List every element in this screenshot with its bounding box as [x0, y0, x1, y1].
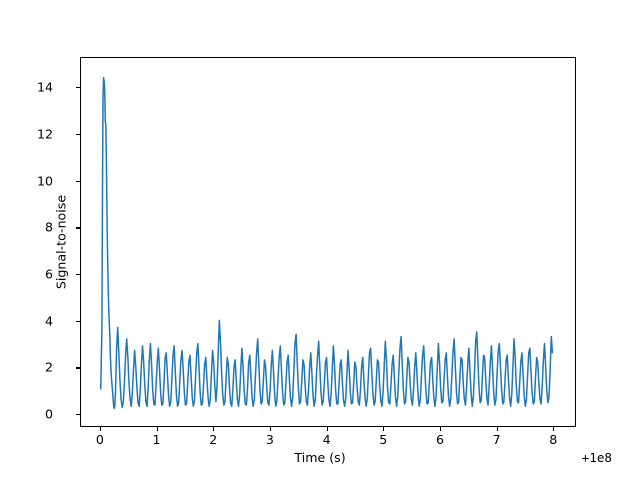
signal-to-noise-line-series	[81, 58, 575, 426]
x-tick-label: 5	[379, 432, 387, 447]
x-tick-label: 7	[493, 432, 501, 447]
x-tick-mark	[440, 427, 441, 431]
y-tick-mark	[76, 367, 80, 368]
x-axis-label: Time (s)	[0, 450, 640, 465]
matplotlib-figure: 012345678 02468101214 Time (s) +1e8 Sign…	[0, 0, 640, 480]
plot-axes-frame	[80, 57, 576, 427]
x-tick-label: 8	[549, 432, 557, 447]
y-tick-mark	[76, 87, 80, 88]
x-tick-label: 3	[266, 432, 274, 447]
x-tick-label: 1	[153, 432, 161, 447]
data-polyline	[101, 78, 553, 409]
y-tick-mark	[76, 181, 80, 182]
x-tick-label: 4	[323, 432, 331, 447]
y-tick-label: 8	[45, 220, 53, 235]
x-tick-mark	[157, 427, 158, 431]
y-tick-label: 10	[37, 173, 53, 188]
x-tick-mark	[100, 427, 101, 431]
x-tick-mark	[213, 427, 214, 431]
y-tick-mark	[76, 321, 80, 322]
y-tick-mark	[76, 414, 80, 415]
x-axis-offset-text: +1e8	[582, 450, 612, 465]
x-tick-mark	[270, 427, 271, 431]
y-tick-label: 14	[37, 80, 53, 95]
y-tick-mark	[76, 134, 80, 135]
x-tick-label: 0	[96, 432, 104, 447]
y-tick-mark	[76, 274, 80, 275]
x-tick-mark	[553, 427, 554, 431]
y-axis-label: Signal-to-noise	[54, 195, 69, 289]
x-tick-label: 2	[209, 432, 217, 447]
x-tick-mark	[327, 427, 328, 431]
y-tick-label: 6	[45, 267, 53, 282]
y-tick-mark	[76, 227, 80, 228]
x-tick-mark	[383, 427, 384, 431]
y-tick-label: 4	[45, 313, 53, 328]
x-tick-label: 6	[436, 432, 444, 447]
y-tick-label: 2	[45, 360, 53, 375]
x-tick-mark	[497, 427, 498, 431]
y-tick-label: 12	[37, 127, 53, 142]
y-tick-label: 0	[45, 407, 53, 422]
